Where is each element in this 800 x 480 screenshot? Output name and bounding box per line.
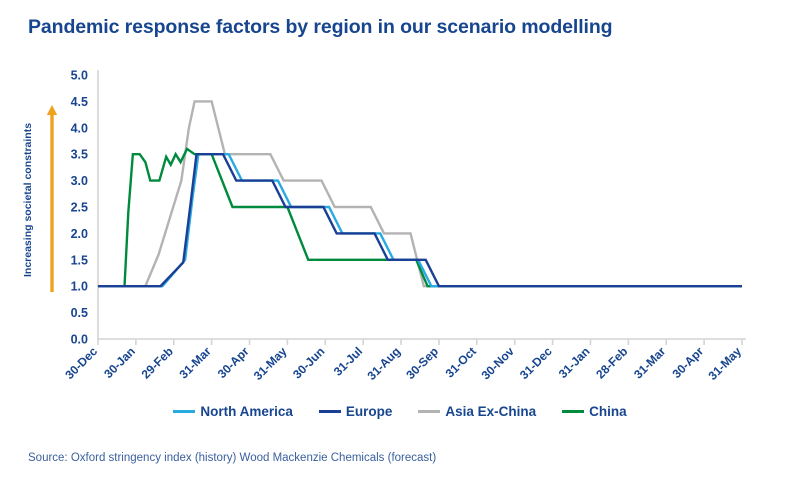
x-tick-label: 31-Jan	[556, 344, 593, 381]
y-axis-tick-labels: 0.00.51.01.52.02.53.03.54.04.55.0	[71, 69, 88, 347]
series-lines	[98, 101, 742, 286]
legend-swatch-icon	[418, 410, 440, 414]
y-tick-label: 2.0	[71, 227, 88, 241]
x-tick-label: 30-Nov	[479, 344, 517, 382]
x-tick-label: 30-Jun	[290, 344, 327, 381]
y-tick-label: 0.5	[71, 306, 88, 320]
legend-label: Asia Ex-China	[445, 404, 536, 419]
y-tick-label: 2.5	[71, 201, 88, 215]
x-axis-tick-labels: 30-Dec30-Jan29-Feb31-Mar30-Apr31-May30-J…	[62, 344, 744, 383]
x-tick-label: 30-Apr	[669, 344, 706, 381]
source-note: Source: Oxford stringency index (history…	[28, 452, 436, 464]
x-tick-label: 31-Mar	[177, 344, 214, 381]
x-tick-label: 30-Jan	[101, 344, 138, 381]
legend-label: China	[589, 404, 627, 419]
y-tick-label: 1.0	[71, 280, 88, 294]
y-tick-label: 4.0	[71, 121, 88, 135]
legend-item-china[interactable]: China	[562, 404, 627, 419]
y-tick-label: 0.0	[71, 333, 88, 347]
chart-legend: North AmericaEuropeAsia Ex-ChinaChina	[0, 404, 800, 419]
legend-item-asia-ex-china[interactable]: Asia Ex-China	[418, 404, 536, 419]
legend-item-north-america[interactable]: North America	[173, 404, 293, 419]
x-tick-label: 31-Dec	[517, 344, 555, 382]
x-tick-label: 31-Aug	[365, 344, 404, 383]
axis-lines	[98, 70, 746, 339]
x-axis-tick-marks	[98, 339, 742, 345]
legend-label: North America	[200, 404, 293, 419]
line-chart: 0.00.51.01.52.02.53.03.54.04.55.0 30-Dec…	[0, 0, 800, 400]
x-tick-label: 31-May	[251, 344, 290, 383]
x-tick-label: 29-Feb	[139, 344, 176, 381]
x-tick-label: 30-Sep	[403, 344, 441, 382]
y-tick-label: 3.0	[71, 174, 88, 188]
y-tick-label: 4.5	[71, 95, 88, 109]
increasing-arrow-icon	[47, 105, 57, 292]
x-tick-label: 30-Dec	[62, 344, 100, 382]
x-tick-label: 31-Jul	[331, 344, 365, 378]
x-tick-label: 28-Feb	[593, 344, 630, 381]
x-tick-label: 30-Apr	[215, 344, 252, 381]
y-tick-label: 1.5	[71, 253, 88, 267]
x-tick-label: 31-May	[705, 344, 744, 383]
series-line-asia-ex-china	[98, 101, 742, 286]
x-tick-label: 31-Oct	[443, 344, 479, 380]
legend-item-europe[interactable]: Europe	[319, 404, 393, 419]
x-tick-label: 31-Mar	[631, 344, 668, 381]
y-tick-label: 5.0	[71, 69, 88, 83]
legend-swatch-icon	[562, 410, 584, 414]
legend-swatch-icon	[319, 410, 341, 414]
legend-label: Europe	[346, 404, 393, 419]
chart-card: Pandemic response factors by region in o…	[0, 0, 800, 480]
legend-swatch-icon	[173, 410, 195, 414]
y-tick-label: 3.5	[71, 148, 88, 162]
